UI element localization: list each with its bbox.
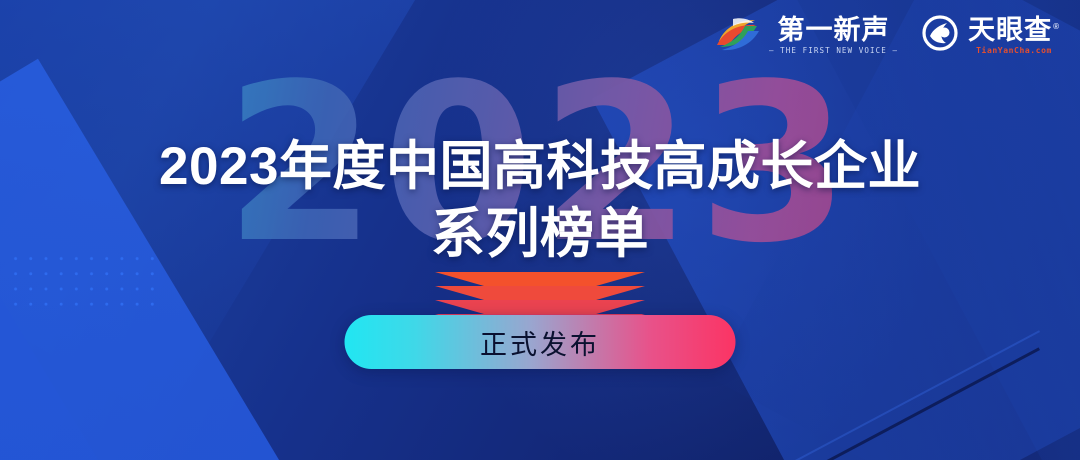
logo-diyixinsheng[interactable]: 第一新声 — THE FIRST NEW VOICE — [715, 14, 898, 57]
tianyancha-wordmark: 天眼查® TianYanCha.com [968, 16, 1060, 54]
logo-en-domain: TianYanCha.com [976, 46, 1052, 55]
poster-banner: 2023 第一新声 — THE FIRST NEW VOICE — [0, 0, 1080, 460]
release-status-label: 正式发布 [480, 323, 600, 362]
first-voice-mark-icon [715, 14, 761, 57]
logo-cn-text: 天眼查® [968, 16, 1060, 44]
logo-tianyancha[interactable]: 天眼查® TianYanCha.com [920, 14, 1060, 57]
registered-mark: ® [1053, 22, 1060, 31]
logo-bar: 第一新声 — THE FIRST NEW VOICE — 天眼查® TianYa… [715, 14, 1060, 57]
tianyancha-eye-icon [920, 14, 960, 57]
title-line-1: 2023年度中国高科技高成长企业 [0, 136, 1080, 199]
logo-cn-text: 第一新声 [778, 16, 890, 44]
first-voice-wordmark: 第一新声 — THE FIRST NEW VOICE — [769, 16, 898, 54]
release-status-pill[interactable]: 正式发布 [345, 315, 736, 369]
title-line-2: 系列榜单 [0, 203, 1080, 267]
page-title: 2023年度中国高科技高成长企业 系列榜单 [0, 136, 1080, 266]
logo-en-tagline: — THE FIRST NEW VOICE — [769, 46, 898, 55]
